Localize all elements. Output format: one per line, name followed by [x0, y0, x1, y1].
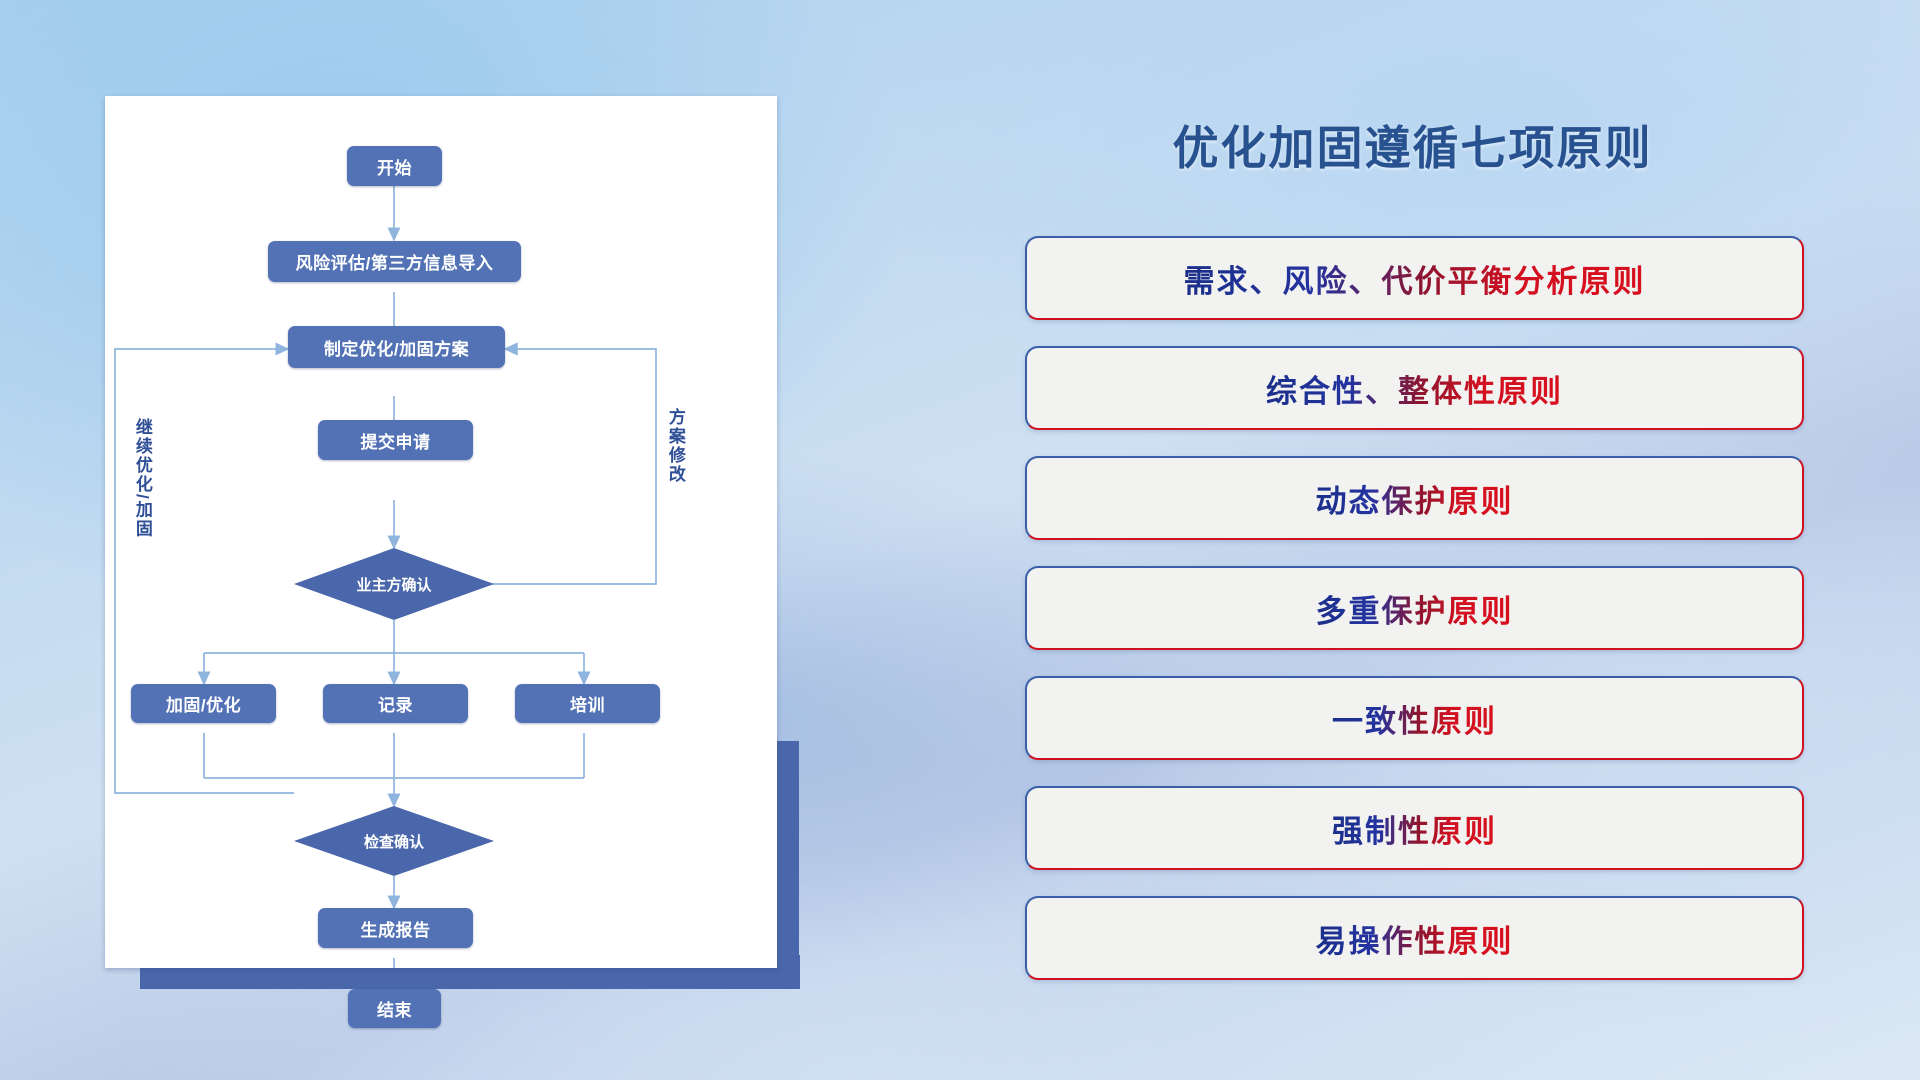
node-reinforce[interactable]: 加固/优化 — [131, 684, 276, 723]
node-risk-assessment[interactable]: 风险评估/第三方信息导入 — [268, 241, 521, 282]
principle-card-5[interactable]: 一致性原则 — [1025, 676, 1804, 760]
node-training[interactable]: 培训 — [515, 684, 660, 723]
node-start[interactable]: 开始 — [347, 146, 442, 186]
flowchart: 业主方确认 检查确认 开始 风险评估/第三方信息导入 制定优化/加固方案 提交申… — [105, 96, 777, 968]
principle-card-7[interactable]: 易操作性原则 — [1025, 896, 1804, 980]
edge-label-continue-optimize: 继续优化/加固 — [133, 418, 151, 539]
principle-label-7: 易操作性原则 — [1316, 916, 1514, 961]
node-end-label: 结束 — [377, 996, 412, 1021]
node-submit-application[interactable]: 提交申请 — [318, 420, 473, 460]
node-training-label: 培训 — [570, 691, 605, 716]
node-start-label: 开始 — [377, 154, 412, 179]
node-plan-label: 制定优化/加固方案 — [324, 335, 469, 360]
node-record-label: 记录 — [378, 691, 413, 716]
decision-inspect-confirm-labelbox: 检查确认 — [294, 806, 494, 876]
slide-canvas: 业主方确认 检查确认 开始 风险评估/第三方信息导入 制定优化/加固方案 提交申… — [0, 0, 1920, 1080]
edge-label-plan-revision: 方案修改 — [666, 408, 684, 484]
node-generate-report-label: 生成报告 — [361, 916, 431, 941]
principle-card-6[interactable]: 强制性原则 — [1025, 786, 1804, 870]
principle-label-1: 需求、风险、代价平衡分析原则 — [1184, 256, 1646, 301]
principle-card-4[interactable]: 多重保护原则 — [1025, 566, 1804, 650]
node-risk-assessment-label: 风险评估/第三方信息导入 — [296, 249, 494, 274]
decision-inspect-confirm-label: 检查确认 — [294, 806, 494, 876]
principle-card-1[interactable]: 需求、风险、代价平衡分析原则 — [1025, 236, 1804, 320]
principle-label-2: 综合性、整体性原则 — [1266, 366, 1563, 411]
node-record[interactable]: 记录 — [323, 684, 468, 723]
node-plan[interactable]: 制定优化/加固方案 — [288, 326, 505, 368]
node-end[interactable]: 结束 — [348, 989, 441, 1028]
panel-title: 优化加固遵循七项原则 — [1025, 112, 1800, 178]
node-submit-application-label: 提交申请 — [361, 428, 431, 453]
principle-label-6: 强制性原则 — [1332, 806, 1497, 851]
principle-label-5: 一致性原则 — [1332, 696, 1497, 741]
flowchart-card: 业主方确认 检查确认 开始 风险评估/第三方信息导入 制定优化/加固方案 提交申… — [105, 96, 777, 968]
principle-card-2[interactable]: 综合性、整体性原则 — [1025, 346, 1804, 430]
node-reinforce-label: 加固/优化 — [166, 691, 241, 716]
principle-label-3: 动态保护原则 — [1316, 476, 1514, 521]
decision-owner-confirm-label: 业主方确认 — [294, 548, 494, 620]
node-generate-report[interactable]: 生成报告 — [318, 908, 473, 948]
principle-card-3[interactable]: 动态保护原则 — [1025, 456, 1804, 540]
principle-label-4: 多重保护原则 — [1316, 586, 1514, 631]
decision-owner-confirm-labelbox: 业主方确认 — [294, 548, 494, 620]
